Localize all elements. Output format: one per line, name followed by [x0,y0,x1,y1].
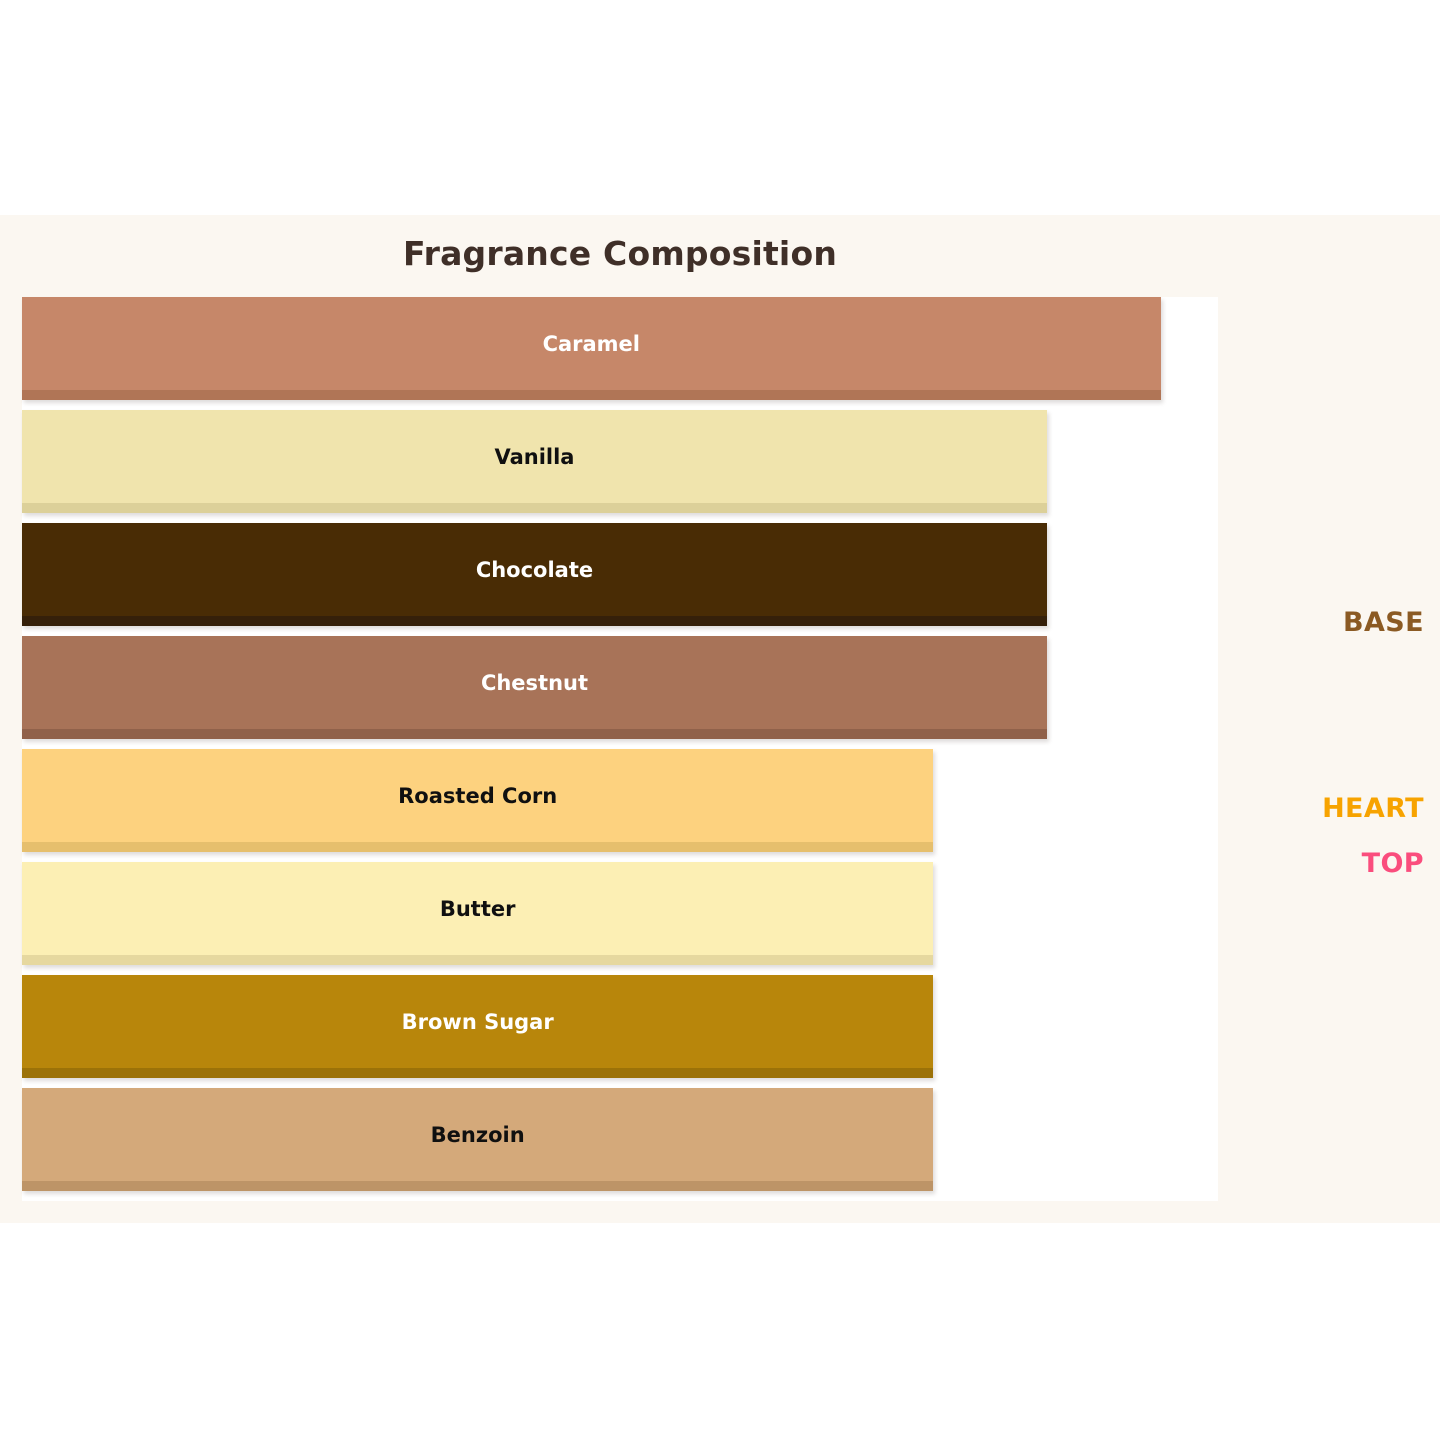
layer-caption-base: BASE [1343,607,1424,638]
bar-row: Chocolate [22,523,1218,636]
bar-brown-sugar[interactable]: Brown Sugar [22,975,933,1078]
bar-base-shade [22,729,1047,739]
bar-row: Vanilla [22,410,1218,523]
plot-area: CaramelVanillaChocolateChestnutRoasted C… [22,297,1218,1201]
bar-face [22,1088,933,1181]
bar-face [22,636,1047,729]
bar-face [22,297,1161,390]
bar-vanilla[interactable]: Vanilla [22,410,1047,513]
bar-base-shade [22,842,933,852]
bar-chocolate[interactable]: Chocolate [22,523,1047,626]
bar-face [22,862,933,955]
bar-base-shade [22,390,1161,400]
bar-base-shade [22,503,1047,513]
bar-base-shade [22,616,1047,626]
bar-face [22,975,933,1068]
bar-row: Chestnut [22,636,1218,749]
bar-row: Roasted Corn [22,749,1218,862]
bar-base-shade [22,955,933,965]
bar-roasted-corn[interactable]: Roasted Corn [22,749,933,852]
bar-base-shade [22,1181,933,1191]
bar-butter[interactable]: Butter [22,862,933,965]
bar-caramel[interactable]: Caramel [22,297,1161,400]
bar-row: Butter [22,862,1218,975]
bar-face [22,749,933,842]
bar-face [22,523,1047,616]
page-title: Fragrance Composition [0,234,1240,273]
layer-caption-top: TOP [1362,848,1424,879]
layer-caption-heart: HEART [1322,793,1424,824]
bar-benzoin[interactable]: Benzoin [22,1088,933,1191]
bar-row: Caramel [22,297,1218,410]
bar-row: Benzoin [22,1088,1218,1201]
bar-base-shade [22,1068,933,1078]
chart-figure: Fragrance Composition CaramelVanillaChoc… [0,215,1440,1223]
bar-face [22,410,1047,503]
bar-chestnut[interactable]: Chestnut [22,636,1047,739]
bar-row: Brown Sugar [22,975,1218,1088]
